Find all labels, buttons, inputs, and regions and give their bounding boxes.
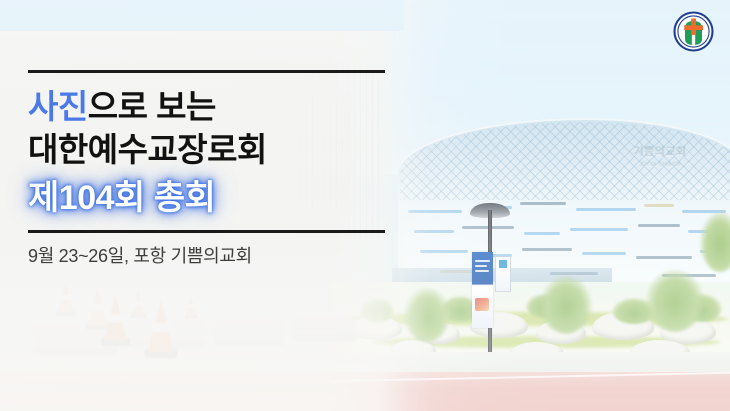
divider-top [28, 70, 385, 73]
headline-line-1: 사진으로 보는 [28, 86, 388, 127]
title-block: 사진으로 보는 대한예수교장로회 제104회 총회 9월 23~26일, 포항 … [28, 70, 388, 267]
church-emblem-logo [671, 9, 716, 54]
headline-line-3-glow: 제104회 총회 [28, 176, 388, 220]
headline-line-1-rest: 으로 보는 [88, 88, 216, 125]
conference-promo-banner: 기쁨의교회 JOY OF CHURCH [0, 0, 730, 411]
top-sky-overlay-strip [0, 0, 404, 31]
emblem-icon [671, 9, 716, 54]
event-date-venue: 9월 23~26일, 포항 기쁨의교회 [28, 245, 388, 267]
headline-line-2: 대한예수교장로회 [28, 129, 388, 170]
divider-bottom [28, 230, 385, 233]
headline-accent-word: 사진 [28, 88, 88, 125]
